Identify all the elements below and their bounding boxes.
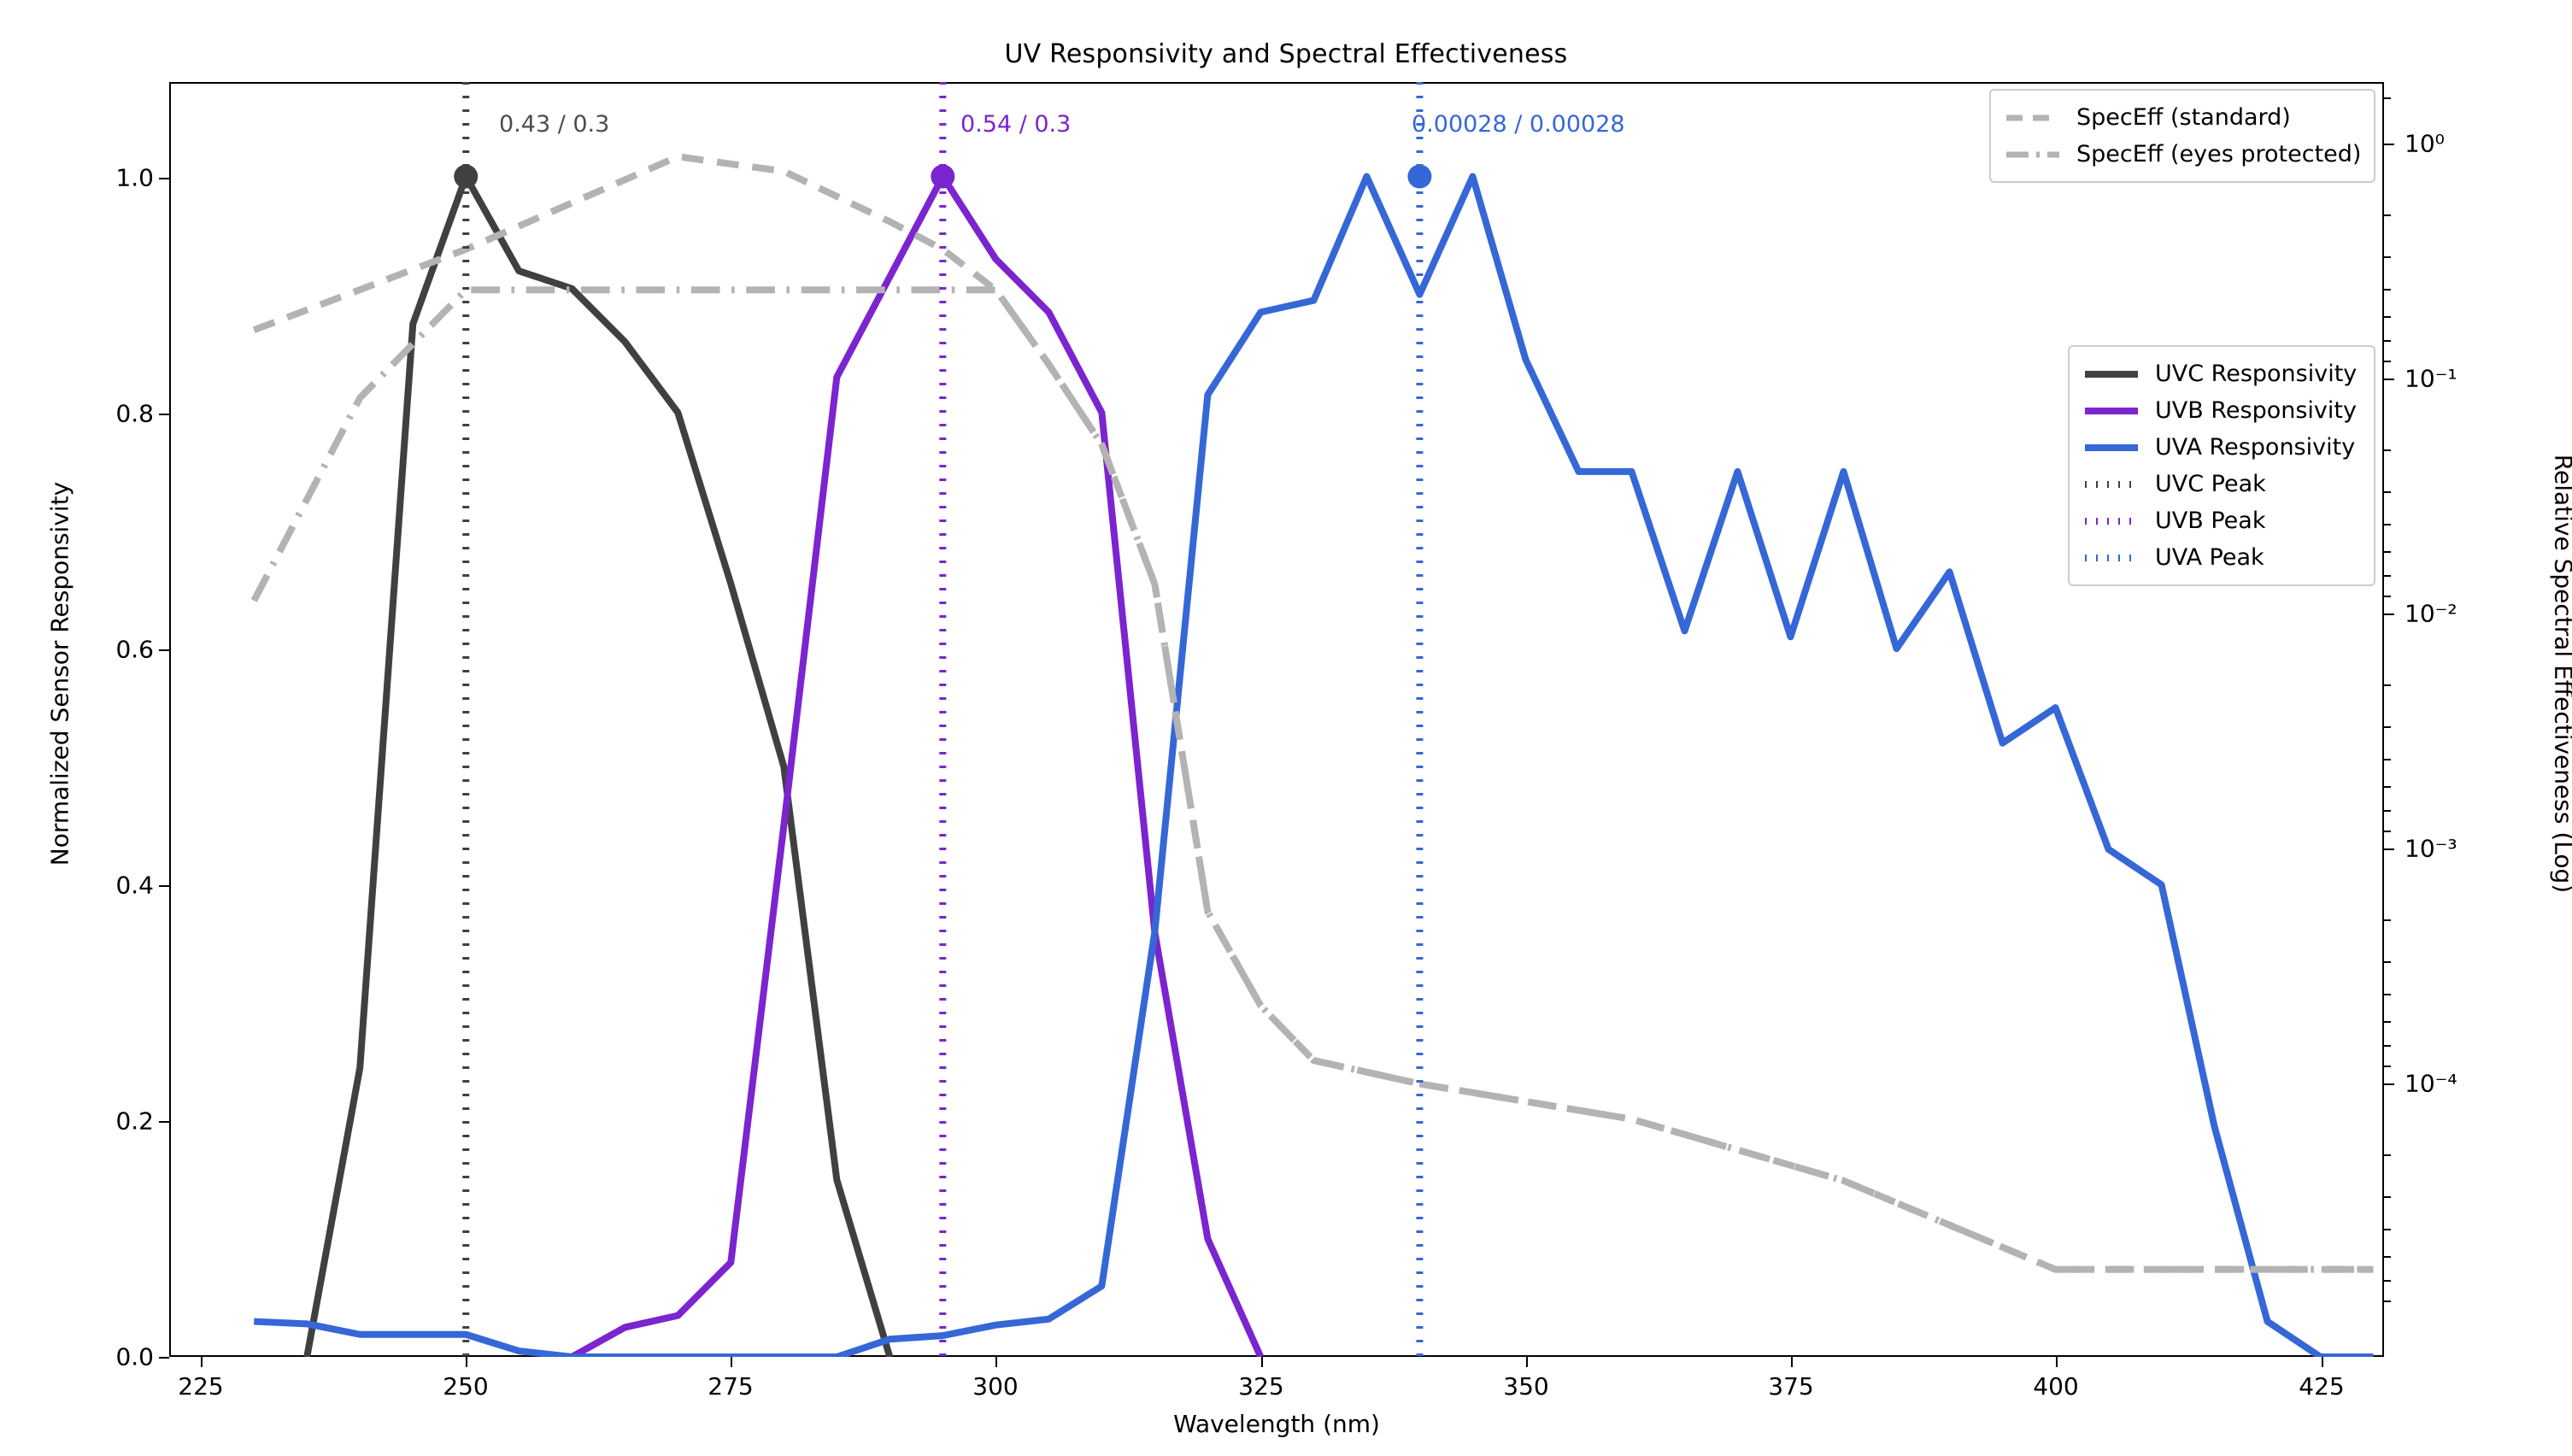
ytick-right-minor (2384, 684, 2391, 686)
legend-item-uvb-peak[interactable]: UVB Peak (2083, 502, 2360, 539)
ytick-mark (159, 1121, 169, 1123)
ytick-right-minor (2384, 361, 2391, 362)
ytick-right-minor (2384, 596, 2391, 597)
xtick-mark (995, 1357, 997, 1367)
ytick-right-minor (2384, 214, 2391, 216)
xtick-label-400: 400 (1988, 1372, 2124, 1400)
ytick-right-minor (2384, 256, 2391, 258)
ytick-mark (159, 885, 169, 887)
y-axis-label-right: Relative Spectral Effectiveness (Log) (2550, 332, 2572, 1016)
ytick-right-minor (2384, 575, 2391, 577)
legend-responsivity: UVC Responsivity UVB Responsivity UVA Re… (2068, 345, 2375, 586)
ytick-right-minor (2384, 994, 2391, 995)
annotation-uvb-peak: 0.54 / 0.3 (960, 111, 1071, 138)
ytick-right-minor (2384, 1196, 2391, 1198)
xtick-mark (201, 1357, 203, 1367)
ytick-right-minor (2384, 810, 2391, 812)
ytick-right-label-1e-1: 10⁻¹ (2405, 365, 2457, 393)
ytick-label-1.0: 1.0 (51, 164, 154, 192)
ytick-right-minor (2384, 491, 2391, 493)
ytick-right-label-1e-4: 10⁻⁴ (2405, 1070, 2457, 1098)
ytick-right-minor (2384, 1066, 2391, 1067)
xtick-label-375: 375 (1723, 1372, 1859, 1400)
dotted-line-icon (2083, 475, 2140, 494)
legend-label: UVA Responsivity (2155, 434, 2355, 461)
legend-label: UVB Responsivity (2155, 397, 2357, 424)
xtick-label-350: 350 (1458, 1372, 1594, 1400)
series-line (254, 177, 2373, 1357)
ytick-right-mark (2384, 144, 2394, 145)
ytick-label-0.2: 0.2 (51, 1107, 154, 1136)
xtick-mark (466, 1357, 467, 1367)
xtick-label-325: 325 (1193, 1372, 1330, 1400)
xtick-label-250: 250 (397, 1372, 534, 1400)
series-line (572, 177, 1260, 1357)
legend-item-uvb-responsivity[interactable]: UVB Responsivity (2083, 392, 2360, 429)
series-line (254, 290, 2373, 1269)
legend-label: UVC Responsivity (2155, 361, 2357, 387)
peak-marker-dot (1407, 165, 1431, 189)
xtick-label-275: 275 (662, 1372, 799, 1400)
ytick-right-mark (2384, 1083, 2394, 1085)
ytick-right-minor (2384, 551, 2391, 553)
series-line (307, 177, 890, 1357)
xtick-label-300: 300 (927, 1372, 1064, 1400)
xtick-mark (2322, 1357, 2323, 1367)
xtick-mark (2056, 1357, 2058, 1367)
xtick-mark (1261, 1357, 1263, 1367)
xtick-label-425: 425 (2253, 1372, 2390, 1400)
dash-dot-line-icon (2005, 145, 2061, 164)
legend-item-uvc-peak[interactable]: UVC Peak (2083, 466, 2360, 502)
annotation-uvc-peak: 0.43 / 0.3 (499, 111, 609, 138)
xtick-mark (1791, 1357, 1793, 1367)
ytick-right-minor (2384, 1154, 2391, 1156)
ytick-right-minor (2384, 289, 2391, 291)
ytick-right-label-1e-2: 10⁻² (2405, 600, 2457, 628)
xtick-mark (1526, 1357, 1528, 1367)
legend-item-speceff-standard[interactable]: SpecEff (standard) (2005, 99, 2360, 136)
legend-label: SpecEff (eyes protected) (2076, 141, 2361, 167)
legend-item-uva-responsivity[interactable]: UVA Responsivity (2083, 429, 2360, 466)
ytick-right-minor (2384, 726, 2391, 728)
ytick-right-minor (2384, 340, 2391, 342)
ytick-right-minor (2384, 1045, 2391, 1047)
legend-item-uva-peak[interactable]: UVA Peak (2083, 539, 2360, 576)
ytick-right-minor (2384, 316, 2391, 318)
xtick-label-225: 225 (132, 1372, 269, 1400)
legend-label: UVC Peak (2155, 471, 2266, 497)
legend-item-uvc-responsivity[interactable]: UVC Responsivity (2083, 355, 2360, 392)
legend-item-speceff-eyes-protected[interactable]: SpecEff (eyes protected) (2005, 136, 2360, 173)
ytick-right-minor (2384, 786, 2391, 788)
ytick-right-minor (2384, 449, 2391, 451)
ytick-mark (159, 1357, 169, 1359)
legend-speceff: SpecEff (standard) SpecEff (eyes protect… (1989, 89, 2375, 183)
ytick-right-minor (2384, 961, 2391, 963)
ytick-right-minor (2384, 1280, 2391, 1282)
ytick-right-minor (2384, 1229, 2391, 1230)
x-axis-label: Wavelength (nm) (169, 1410, 2384, 1438)
ytick-right-mark (2384, 848, 2394, 850)
dashed-line-icon (2005, 109, 2061, 127)
ytick-label-0.0: 0.0 (51, 1343, 154, 1371)
annotation-uva-peak: 0.00028 / 0.00028 (1412, 111, 1625, 138)
ytick-right-mark (2384, 379, 2394, 380)
solid-line-icon (2083, 438, 2140, 457)
y-axis-label-left: Normalized Sensor Responsivity (46, 332, 74, 1016)
peak-marker-dot (454, 165, 478, 189)
solid-line-icon (2083, 365, 2140, 384)
ytick-right-label-1e0: 10⁰ (2405, 130, 2445, 158)
ytick-mark (159, 649, 169, 651)
ytick-right-minor (2384, 1256, 2391, 1258)
legend-label: UVA Peak (2155, 544, 2264, 571)
ytick-right-minor (2384, 759, 2391, 760)
ytick-right-minor (2384, 919, 2391, 921)
chart-figure: UV Responsivity and Spectral Effectivene… (0, 0, 2572, 1456)
peak-marker-dot (931, 165, 954, 189)
solid-line-icon (2083, 402, 2140, 420)
legend-label: SpecEff (standard) (2076, 104, 2291, 131)
ytick-right-minor (2384, 1300, 2391, 1302)
legend-label: UVB Peak (2155, 508, 2265, 534)
plot-canvas (169, 82, 2384, 1357)
ytick-right-mark (2384, 614, 2394, 615)
ytick-mark (159, 178, 169, 179)
ytick-right-minor (2384, 97, 2391, 99)
ytick-right-minor (2384, 524, 2391, 525)
xtick-mark (731, 1357, 732, 1367)
ytick-right-minor (2384, 1021, 2391, 1023)
ytick-right-minor (2384, 831, 2391, 832)
dotted-line-icon (2083, 549, 2140, 567)
ytick-right-label-1e-3: 10⁻³ (2405, 835, 2457, 863)
ytick-mark (159, 414, 169, 415)
page-title: UV Responsivity and Spectral Effectivene… (0, 39, 2572, 69)
dotted-line-icon (2083, 512, 2140, 531)
